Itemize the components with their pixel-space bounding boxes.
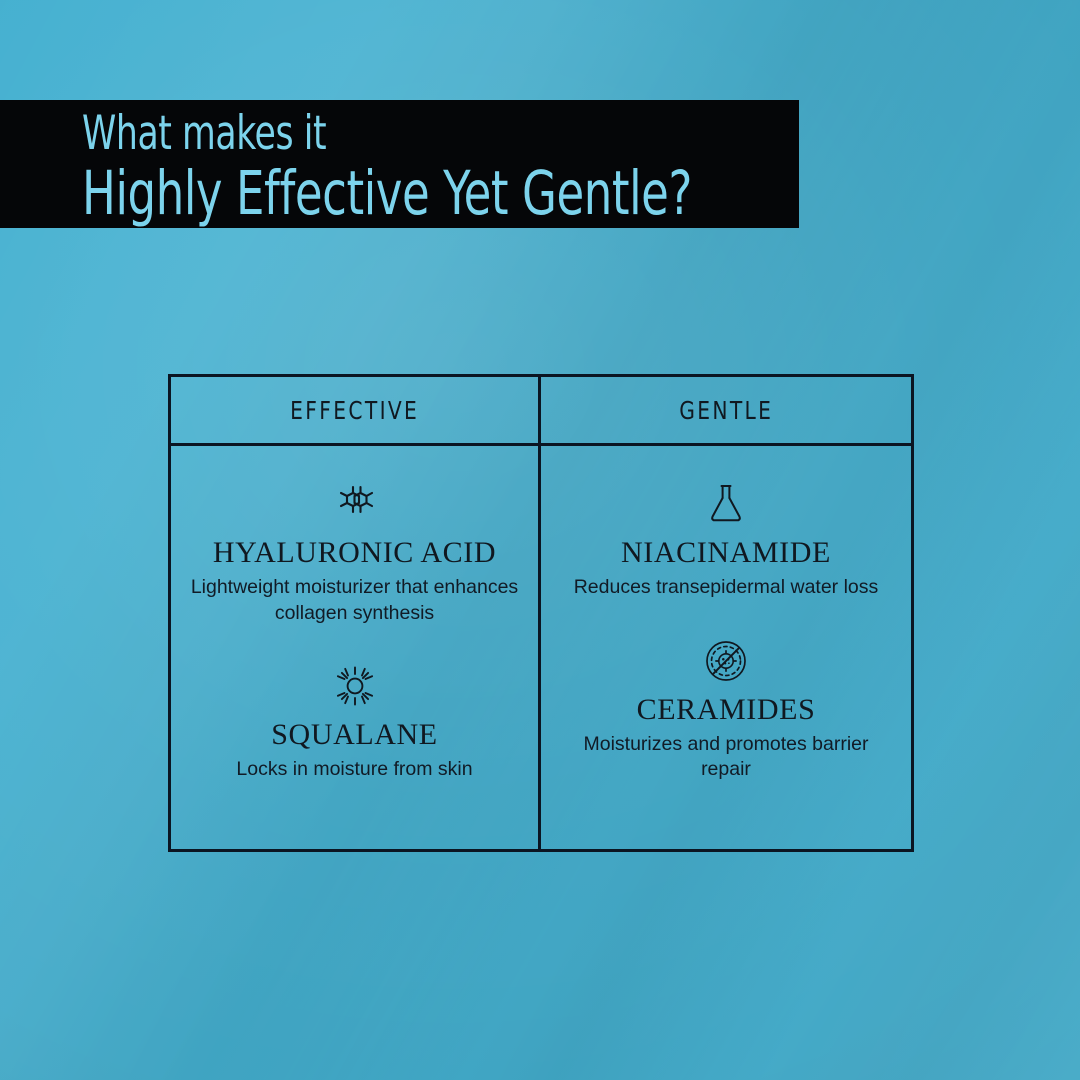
table-header-cell-gentle: GENTLE <box>541 377 911 443</box>
title-banner: What makes it Highly Effective Yet Gentl… <box>0 100 799 228</box>
ingredient-description: Lightweight moisturizer that enhances co… <box>187 575 522 626</box>
table-column-effective-body: HYALURONIC ACID Lightweight moisturizer … <box>171 446 538 849</box>
table-column-gentle-body: NIACINAMIDE Reduces transepidermal water… <box>541 446 911 849</box>
antibacterial-icon <box>704 639 748 683</box>
sun-icon <box>334 664 376 708</box>
table-header-label-effective: EFFECTIVE <box>290 396 419 425</box>
title-line-1: What makes it <box>82 110 670 157</box>
table-header-cell-effective: EFFECTIVE <box>171 377 541 443</box>
molecule-icon <box>336 482 374 526</box>
ingredient-description: Locks in moisture from skin <box>236 757 472 783</box>
ingredient-title: SQUALANE <box>271 720 437 750</box>
ingredient-item-ceramides: CERAMIDES Moisturizes and promotes barri… <box>541 639 911 783</box>
ingredient-description: Reduces transepidermal water loss <box>574 575 879 601</box>
table-column-gentle: NIACINAMIDE Reduces transepidermal water… <box>541 446 911 849</box>
ingredient-item-niacinamide: NIACINAMIDE Reduces transepidermal water… <box>541 482 911 601</box>
ingredient-title: HYALURONIC ACID <box>213 538 496 568</box>
table-header-row: EFFECTIVE GENTLE <box>171 377 911 446</box>
ingredient-title: CERAMIDES <box>637 695 816 725</box>
ingredient-item-squalane: SQUALANE Locks in moisture from skin <box>171 664 538 783</box>
table-column-effective: HYALURONIC ACID Lightweight moisturizer … <box>171 446 541 849</box>
comparison-table: EFFECTIVE GENTLE <box>168 374 914 852</box>
infographic-canvas: What makes it Highly Effective Yet Gentl… <box>0 0 1080 1080</box>
title-line-2: Highly Effective Yet Gentle? <box>82 163 670 224</box>
table-body: HYALURONIC ACID Lightweight moisturizer … <box>171 446 911 849</box>
flask-icon <box>708 482 744 526</box>
ingredient-title: NIACINAMIDE <box>621 538 831 568</box>
ingredient-item-hyaluronic-acid: HYALURONIC ACID Lightweight moisturizer … <box>171 482 538 626</box>
table-header-label-gentle: GENTLE <box>679 396 773 425</box>
ingredient-description: Moisturizes and promotes barrier repair <box>559 732 894 783</box>
